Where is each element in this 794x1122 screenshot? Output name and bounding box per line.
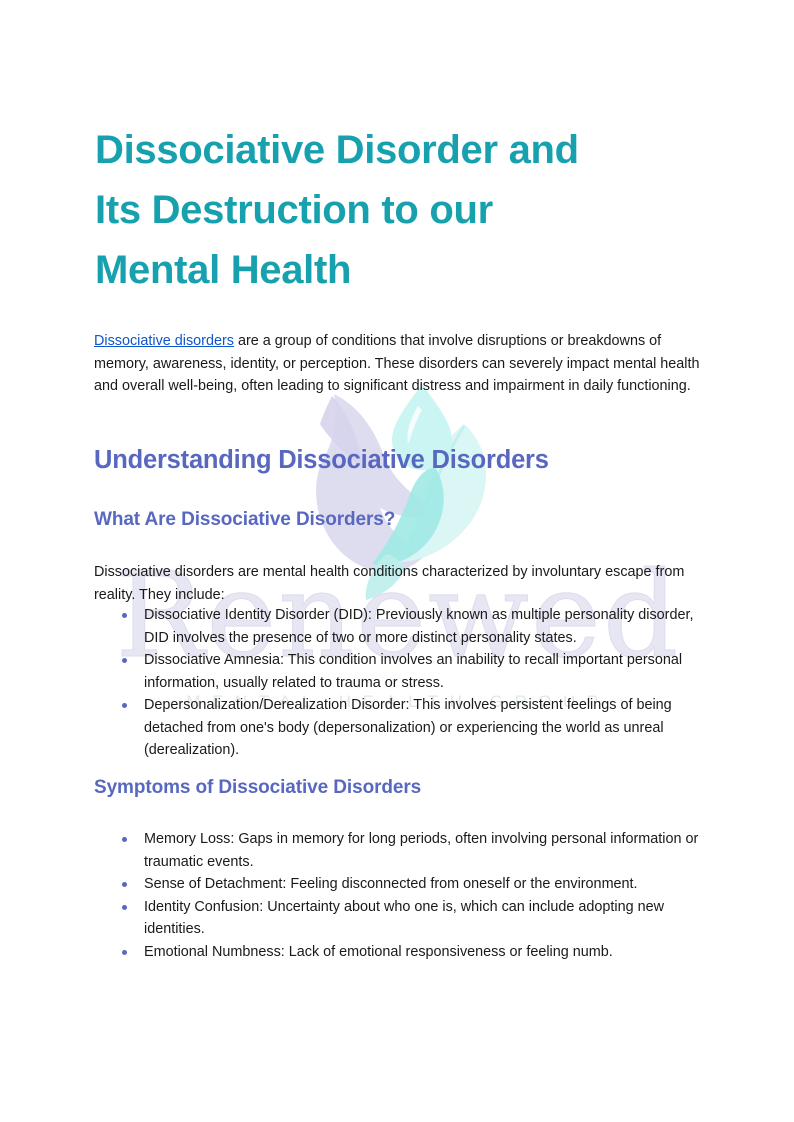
- intro-paragraph: Dissociative disorders are a group of co…: [94, 330, 702, 398]
- list-item-text: Dissociative Identity Disorder (DID): Pr…: [144, 607, 693, 646]
- subsection-heading-what-are: What Are Dissociative Disorders?: [94, 507, 714, 532]
- list-item: Emotional Numbness: Lack of emotional re…: [94, 941, 704, 964]
- document-page: Renewed MENTAL HEALTH GROUP Dissociative…: [0, 0, 794, 1122]
- bullet-dot-icon: [122, 613, 127, 618]
- list-item: Dissociative Identity Disorder (DID): Pr…: [94, 604, 704, 649]
- page-title-line-3: Mental Health: [95, 248, 351, 292]
- page-title-line-1: Dissociative Disorder and: [95, 128, 579, 172]
- list-item-text: Depersonalization/Derealization Disorder…: [144, 697, 672, 758]
- list-item-text: Dissociative Amnesia: This condition inv…: [144, 652, 682, 691]
- list-item: Dissociative Amnesia: This condition inv…: [94, 649, 704, 694]
- bullet-dot-icon: [122, 905, 127, 910]
- page-title: Dissociative Disorder and Its Destructio…: [95, 120, 695, 300]
- bullet-dot-icon: [122, 882, 127, 887]
- list-item: Identity Confusion: Uncertainty about wh…: [94, 896, 704, 941]
- list-item: Depersonalization/Derealization Disorder…: [94, 694, 704, 762]
- list-item-text: Emotional Numbness: Lack of emotional re…: [144, 944, 613, 960]
- bullet-dot-icon: [122, 703, 127, 708]
- subsection-heading-symptoms: Symptoms of Dissociative Disorders: [94, 775, 714, 800]
- list-item-text: Memory Loss: Gaps in memory for long per…: [144, 831, 698, 870]
- what-are-bullet-list: Dissociative Identity Disorder (DID): Pr…: [94, 604, 704, 762]
- page-title-line-2: Its Destruction to our: [95, 188, 493, 232]
- list-item-text: Sense of Detachment: Feeling disconnecte…: [144, 876, 638, 892]
- dissociative-disorders-link[interactable]: Dissociative disorders: [94, 333, 234, 349]
- section-heading-understanding: Understanding Dissociative Disorders: [94, 444, 714, 476]
- bullet-dot-icon: [122, 950, 127, 955]
- list-item: Memory Loss: Gaps in memory for long per…: [94, 828, 704, 873]
- what-are-paragraph: Dissociative disorders are mental health…: [94, 561, 694, 606]
- bullet-dot-icon: [122, 837, 127, 842]
- symptoms-bullet-list: Memory Loss: Gaps in memory for long per…: [94, 828, 704, 963]
- list-item: Sense of Detachment: Feeling disconnecte…: [94, 873, 704, 896]
- list-item-text: Identity Confusion: Uncertainty about wh…: [144, 899, 664, 938]
- bullet-dot-icon: [122, 658, 127, 663]
